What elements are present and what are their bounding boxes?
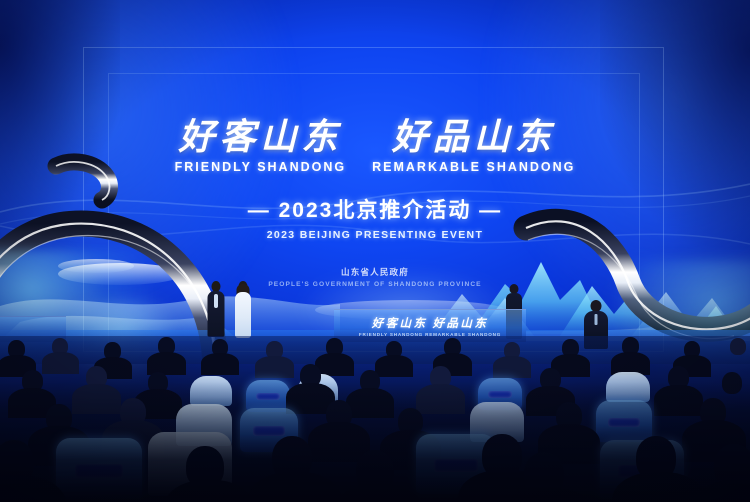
audience-chair-cover bbox=[606, 372, 650, 402]
audience-head bbox=[730, 338, 746, 355]
audience-area bbox=[0, 336, 750, 502]
audience-chair-cover bbox=[190, 376, 232, 406]
stage-photo-scene: 好客山东 FRIENDLY SHANDONG 好品山东 REMARKABLE S… bbox=[0, 0, 750, 502]
host-female-dress bbox=[235, 292, 251, 338]
audience-head bbox=[722, 372, 742, 394]
stage-person-right-tie bbox=[595, 314, 598, 325]
audience-shoulders bbox=[72, 384, 121, 414]
host-female bbox=[231, 281, 255, 337]
audience-shoulders bbox=[255, 356, 294, 378]
audience-shoulders bbox=[493, 356, 531, 378]
audience-shoulders bbox=[346, 388, 394, 418]
audience-shoulders bbox=[201, 353, 239, 375]
audience-shoulders bbox=[147, 352, 186, 375]
audience-shoulders bbox=[654, 385, 703, 416]
audience-shoulders bbox=[375, 355, 413, 377]
lectern-slogan-chinese: 好客山东 好品山东 bbox=[372, 315, 488, 331]
host-male bbox=[205, 281, 227, 336]
audience-chair-foreground bbox=[56, 438, 142, 500]
host-male-shirt bbox=[214, 294, 218, 308]
audience-shoulders bbox=[416, 384, 465, 414]
audience-chair-lit bbox=[596, 400, 652, 442]
audience-shoulders bbox=[42, 352, 79, 374]
